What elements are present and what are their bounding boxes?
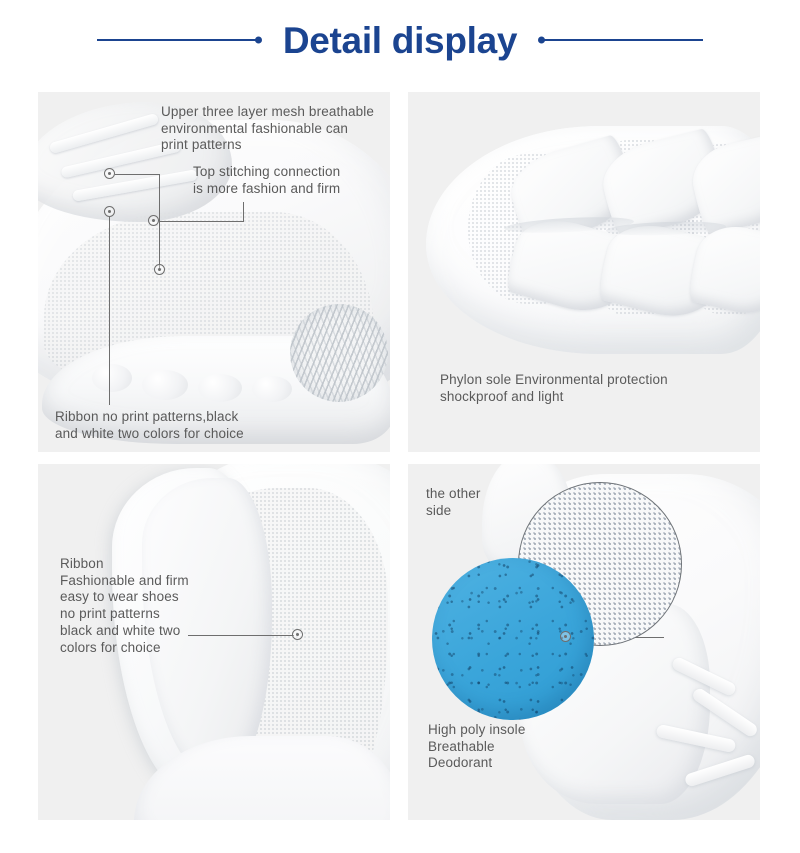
page-header: Detail display [0, 0, 800, 80]
callout-marker-stitching [148, 215, 159, 226]
page-title: Detail display [259, 22, 541, 59]
callout-marker-upper-c [154, 264, 165, 275]
leader-line-a-h [115, 174, 160, 175]
detail-panel-grid: Upper three layer mesh breathable enviro… [38, 92, 760, 820]
other-side-callout: the other side [426, 486, 536, 519]
panel-phylon-sole: Phylon sole Environmental protection sho… [408, 92, 760, 452]
callout-marker-upper-b [104, 206, 115, 217]
detail-display-page: Detail display Upper three layer mesh br… [0, 0, 800, 853]
header-rule-left [97, 39, 259, 41]
header-dot-left-icon [255, 37, 262, 44]
panel-insole: the other side High poly insole Breathab… [408, 464, 760, 820]
panel-ribbon-heel: Ribbon Fashionable and firm easy to wear… [38, 464, 390, 820]
leader-line-b-v [109, 217, 110, 405]
phylon-sole-callout: Phylon sole Environmental protection sho… [440, 372, 740, 405]
header-rule-right [541, 39, 703, 41]
callout-marker-upper-a [104, 168, 115, 179]
upper-mesh-callout: Upper three layer mesh breathable enviro… [161, 104, 390, 154]
sole-bubble [252, 376, 292, 402]
sole-bubble [198, 374, 242, 402]
ribbon-colors-callout: Ribbon no print patterns,black and white… [55, 409, 305, 442]
stitching-zoom-circle [290, 304, 388, 402]
high-poly-insole-callout: High poly insole Breathable Deodorant [428, 722, 628, 772]
sole-bubble [142, 370, 188, 400]
leader-line-stitch-v [243, 202, 244, 221]
top-stitching-callout: Top stitching connection is more fashion… [193, 164, 390, 197]
ribbon-detail-callout: Ribbon Fashionable and firm easy to wear… [60, 556, 250, 656]
panel-upper-mesh: Upper three layer mesh breathable enviro… [38, 92, 390, 452]
leader-line-stitch-h [159, 221, 244, 222]
callout-marker-ribbon [292, 629, 303, 640]
header-dot-right-icon [538, 37, 545, 44]
callout-marker-insole [560, 631, 571, 642]
sole-bubble [92, 364, 132, 392]
